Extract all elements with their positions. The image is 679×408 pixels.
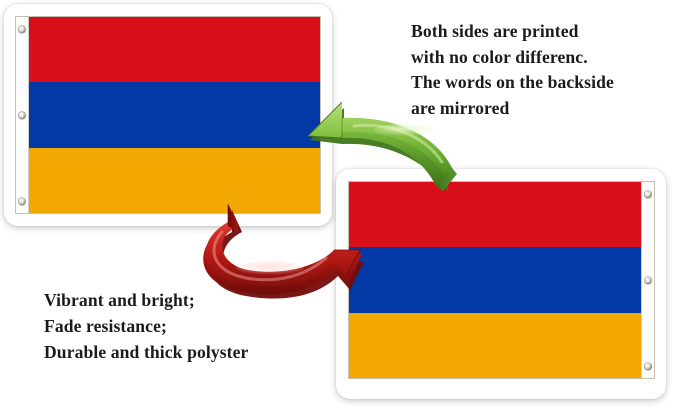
caption-line: Durable and thick polyster — [44, 339, 248, 365]
caption-line: The words on the backside — [411, 70, 614, 96]
caption-line: Vibrant and bright; — [44, 287, 248, 313]
grommet-icon — [645, 277, 652, 284]
grommet-icon — [645, 191, 652, 198]
caption-line: are mirrored — [411, 96, 614, 122]
flag-back-stripe-blue — [349, 247, 654, 312]
flag-front-stripe-blue — [16, 82, 320, 147]
both-sides-printed-caption: Both sides are printed with no color dif… — [411, 19, 614, 121]
caption-line: Both sides are printed — [411, 19, 614, 45]
flag-card-front — [4, 4, 332, 226]
flag-back-stripe-yellow — [349, 313, 654, 378]
flag-front-hoist-strip — [16, 17, 29, 213]
flag-front-stripe-red — [16, 17, 320, 82]
flag-front-image — [15, 16, 321, 214]
flag-back-hoist-strip — [641, 182, 654, 378]
grommet-icon — [19, 112, 26, 119]
grommet-icon — [19, 26, 26, 33]
caption-line: Fade resistance; — [44, 313, 248, 339]
material-features-caption: Vibrant and bright; Fade resistance; Dur… — [44, 287, 248, 365]
caption-line: with no color differenc. — [411, 45, 614, 71]
product-image-canvas: Both sides are printed with no color dif… — [0, 0, 679, 408]
grommet-icon — [645, 363, 652, 370]
flag-back-image — [348, 181, 655, 379]
grommet-icon — [19, 198, 26, 205]
